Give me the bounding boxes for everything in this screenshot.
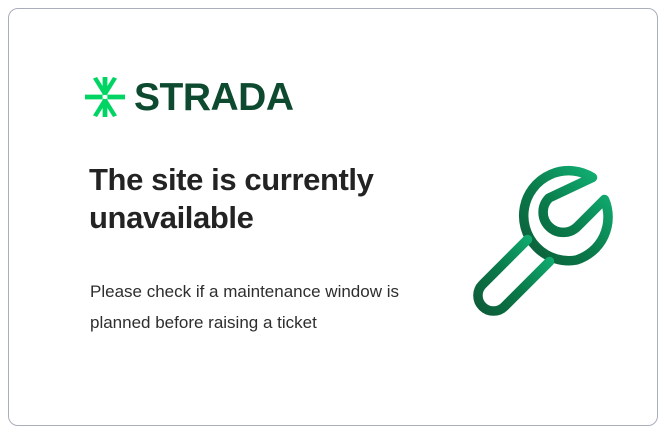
status-card: STRADA The site is currently unavailable…	[8, 8, 658, 426]
brand-logo: STRADA	[85, 77, 294, 117]
page-title: The site is currently unavailable	[89, 161, 429, 237]
wrench-icon	[464, 161, 620, 321]
brand-wordmark: STRADA	[134, 78, 294, 117]
strada-asterisk-icon	[85, 77, 125, 117]
page-description: Please check if a maintenance window is …	[90, 277, 420, 339]
error-page: STRADA The site is currently unavailable…	[0, 0, 666, 436]
